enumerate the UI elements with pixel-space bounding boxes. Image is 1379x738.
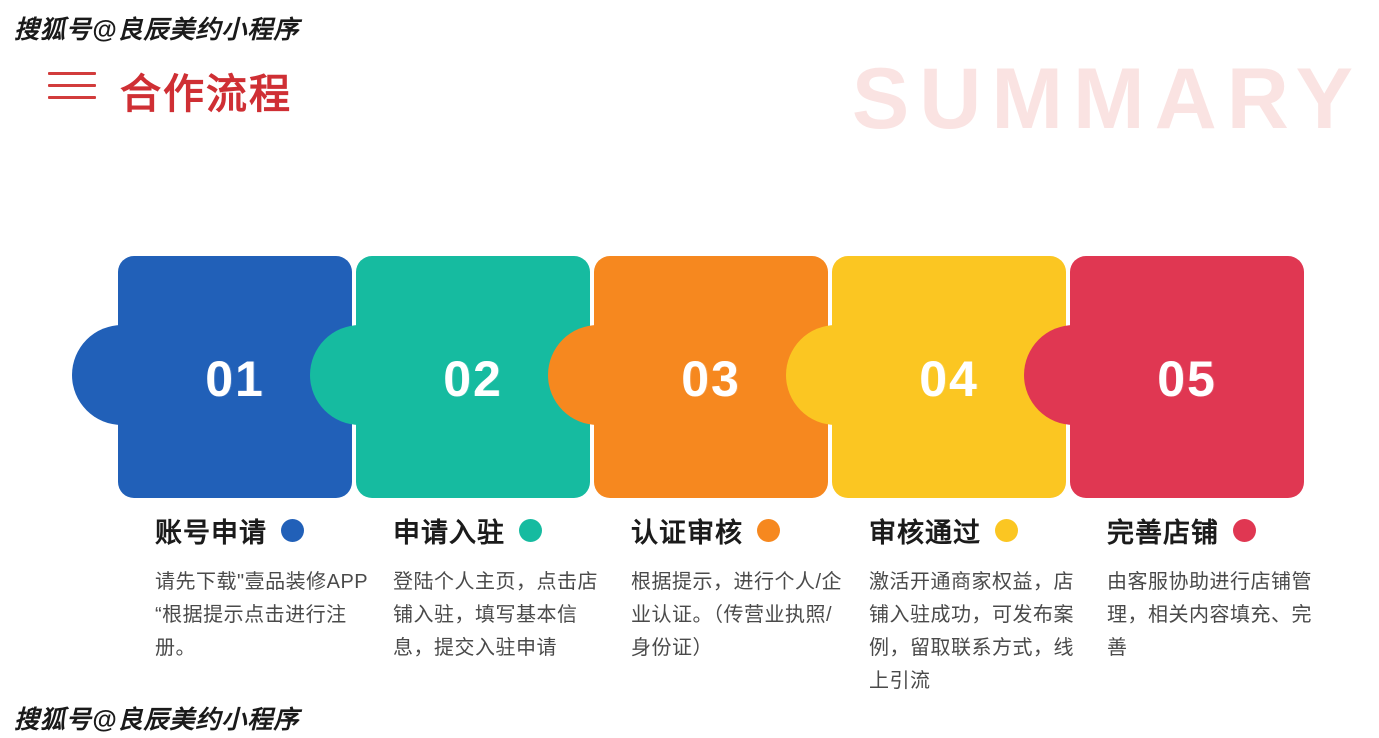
step-column-1: 账号申请 请先下载"壹品装修APP “根据提示点击进行注册。 [155,508,395,665]
puzzle-number-4: 04 [832,350,1066,408]
step-desc-4: 激活开通商家权益，店铺入驻成功，可发布案例，留取联系方式，线上引流 [869,566,1084,698]
hamburger-icon [48,72,96,106]
step-desc-2: 登陆个人主页，点击店铺入驻，填写基本信息，提交入驻申请 [393,566,608,665]
step-column-4: 审核通过 激活开通商家权益，店铺入驻成功，可发布案例，留取联系方式，线上引流 [869,508,1109,698]
background-word: SUMMARY [852,50,1363,149]
step-dot-icon-1 [281,519,304,542]
step-column-3: 认证审核 根据提示，进行个人/企业认证。（传营业执照/身份证） [631,508,871,665]
step-title-1: 账号申请 [155,511,267,550]
puzzle-piece-4[interactable]: 04 [832,256,1066,498]
puzzle-piece-1[interactable]: 01 [118,256,352,498]
step-header-1: 账号申请 [155,508,395,552]
step-header-4: 审核通过 [869,508,1109,552]
puzzle-piece-3[interactable]: 03 [594,256,828,498]
step-desc-3: 根据提示，进行个人/企业认证。（传营业执照/身份证） [631,566,846,665]
puzzle-number-5: 05 [1070,350,1304,408]
puzzle-piece-5[interactable]: 05 [1070,256,1304,498]
step-desc-5: 由客服协助进行店铺管理，相关内容填充、完善 [1107,566,1322,665]
step-title-5: 完善店铺 [1107,511,1219,550]
slide-header: SUMMARY 合作流程 [0,52,1379,130]
step-dot-icon-5 [1233,519,1256,542]
puzzle-piece-2[interactable]: 02 [356,256,590,498]
page-title: 合作流程 [120,60,292,120]
watermark-top: 搜狐号@良辰美约小程序 [14,10,299,46]
puzzle-number-1: 01 [118,350,352,408]
step-title-3: 认证审核 [631,511,743,550]
step-column-5: 完善店铺 由客服协助进行店铺管理，相关内容填充、完善 [1107,508,1347,665]
step-dot-icon-2 [519,519,542,542]
step-header-2: 申请入驻 [393,508,633,552]
puzzle-row: 01 01 02 02 03 03 04 04 05 05 [0,256,1379,498]
step-desc-1: 请先下载"壹品装修APP “根据提示点击进行注册。 [155,566,370,665]
step-column-2: 申请入驻 登陆个人主页，点击店铺入驻，填写基本信息，提交入驻申请 [393,508,633,665]
step-dot-icon-3 [757,519,780,542]
step-dot-icon-4 [995,519,1018,542]
puzzle-number-3: 03 [594,350,828,408]
watermark-bottom: 搜狐号@良辰美约小程序 [14,700,299,736]
step-header-3: 认证审核 [631,508,871,552]
puzzle-number-2: 02 [356,350,590,408]
step-title-4: 审核通过 [869,511,981,550]
step-title-2: 申请入驻 [393,511,505,550]
step-header-5: 完善店铺 [1107,508,1347,552]
